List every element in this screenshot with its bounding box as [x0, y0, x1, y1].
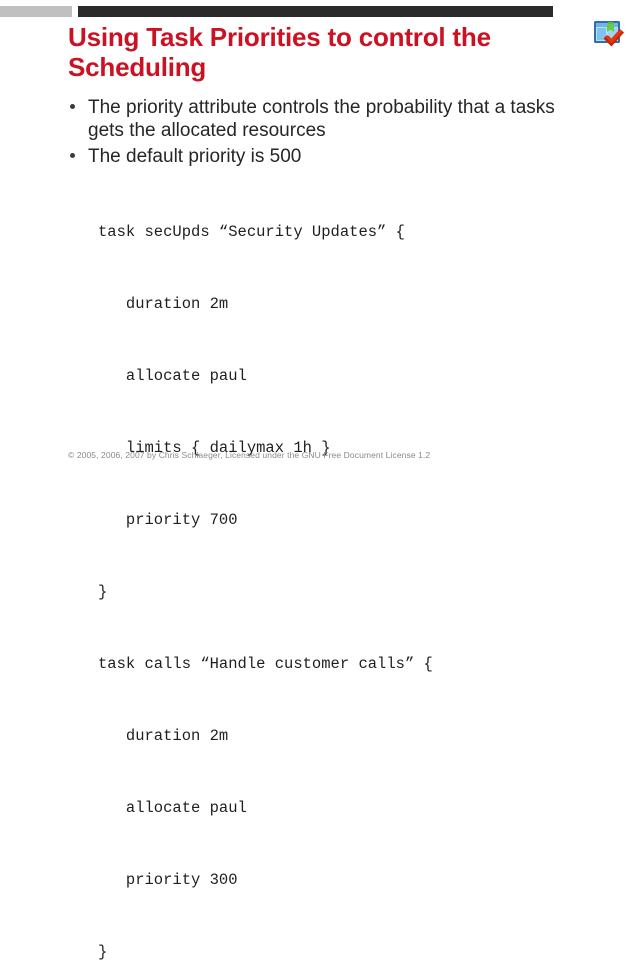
document-check-icon	[592, 18, 628, 54]
code-block: task secUpds “Security Updates” { durati…	[0, 172, 640, 960]
code-line: }	[0, 580, 640, 604]
header-rule-main	[78, 6, 553, 17]
code-line: priority 700	[0, 508, 640, 532]
header-rule-left	[0, 6, 72, 17]
code-line: duration 2m	[0, 724, 640, 748]
code-line: allocate paul	[0, 364, 640, 388]
footer-copyright: © 2005, 2006, 2007 by Chris Schlaeger, L…	[68, 450, 430, 460]
code-line: task secUpds “Security Updates” {	[0, 220, 640, 244]
code-line: priority 300	[0, 868, 640, 892]
bullet-text: The default priority is 500	[88, 146, 301, 167]
code-line: allocate paul	[0, 796, 640, 820]
bullet-dot-icon	[70, 153, 75, 158]
list-item: The priority attribute controls the prob…	[0, 96, 640, 143]
code-line: task calls “Handle customer calls” {	[0, 652, 640, 676]
list-item: The default priority is 500	[0, 145, 640, 168]
slide: Using Task Priorities to control the Sch…	[0, 0, 640, 480]
code-line: }	[0, 940, 640, 960]
code-line: duration 2m	[0, 292, 640, 316]
bullet-text: The priority attribute controls the prob…	[88, 97, 555, 141]
slide-body: The priority attribute controls the prob…	[0, 96, 640, 960]
bullet-dot-icon	[70, 104, 75, 109]
page-title: Using Task Priorities to control the Sch…	[68, 22, 578, 82]
